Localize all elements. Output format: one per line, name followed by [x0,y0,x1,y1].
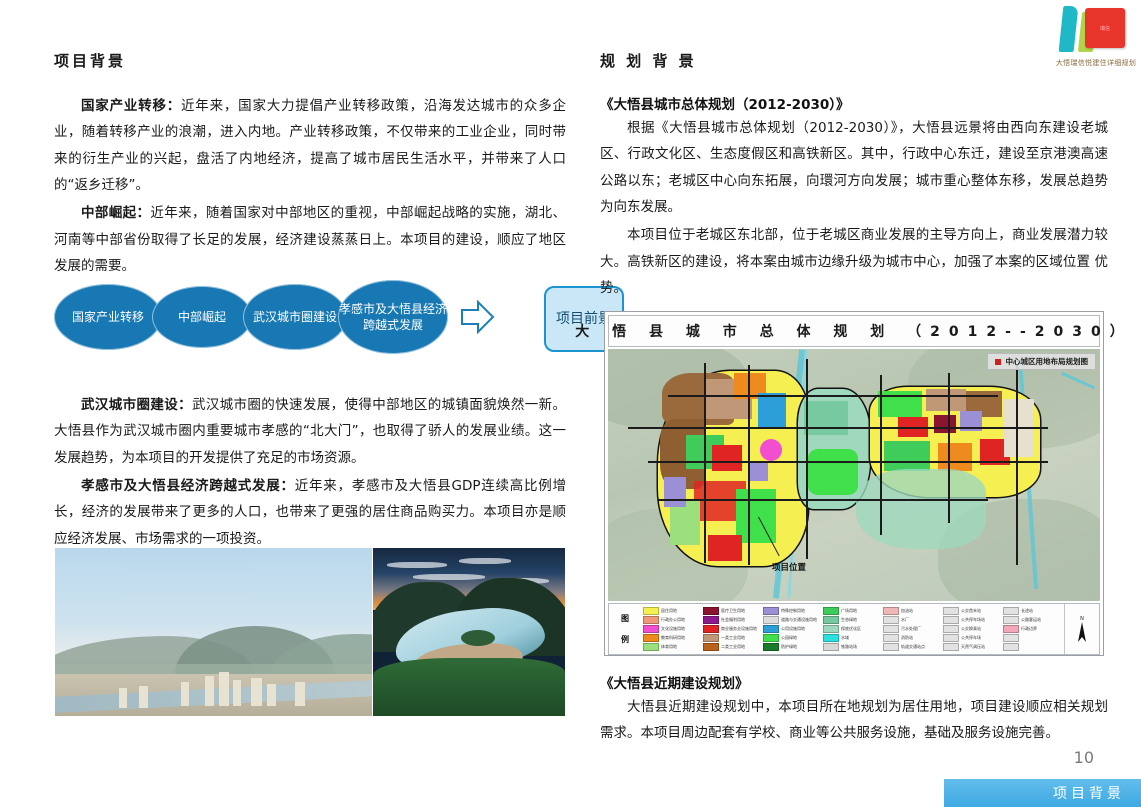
photo-strip [55,548,565,716]
legend-swatch [703,634,719,642]
legend-item-label: 公路客运站 [1021,617,1041,623]
legend-swatch [763,643,779,651]
legend-item: 道路与交通设施用地 [763,616,822,624]
map-legend-title: 图 例 [609,604,641,654]
legend-swatch [763,607,779,615]
map-parcel [938,443,972,471]
legend-item-label: 天然气调压站 [961,644,985,650]
legend-item: 轨道交通站点 [883,643,942,651]
paragraph-wuhan-city-circle: 武汉城市圈建设：武汉城市圈的快速发展，使得中部地区的城镇面貌焕然一新。大悟县作为… [54,392,566,471]
map-parcel [804,401,848,435]
legend-item: 广场用地 [823,607,882,615]
map-road [880,375,882,535]
photo-cloud [459,558,511,564]
map-parcel [884,441,930,471]
legend-item: 行政边界 [1003,625,1062,633]
map-image: 中心城区用地布局规划图 项目位置 [608,349,1100,601]
legend-item-label: 消防站 [901,635,913,641]
photo-building [139,686,148,708]
legend-item: 公交换乘站 [943,625,1002,633]
legend-item: 防护绿地 [763,643,822,651]
subheading-near-term-plan: 《大悟县近期建设规划》 [600,672,1108,692]
right-column: 规 划 背 景 《大悟县城市总体规划（2012-2030）》 根据《大悟县城市总… [600,50,1108,303]
legend-swatch [643,634,659,642]
map-title: 大 悟 县 城 市 总 体 规 划 （2012--2030） [575,321,1132,341]
diagram-node-2[interactable]: 中部崛起 [152,286,252,348]
legend-swatch [1003,607,1019,615]
legend-item: 文化设施用地 [643,625,702,633]
map-legend-items: 居住用地医疗卫生用地特殊控制用地广场用地加油站公交首末站长途站行政办公用地社会福… [641,604,1064,654]
legend-swatch [943,634,959,642]
photo-building [205,676,214,706]
legend-swatch [823,643,839,651]
logo-red-block-icon: 瑞信 [1085,8,1125,48]
legend-item: 特殊控制用地 [763,607,822,615]
photo-city-aerial [55,548,372,716]
footer-bar: 项目背景 [944,779,1141,807]
diagram-node-3[interactable]: 武汉城市圈建设 [243,284,347,350]
project-prospect-diagram: 国家产业转移 中部崛起 武汉城市圈建设 孝感市及大悟县经济跨越式发展 项目前景 [54,276,574,358]
photo-islet [461,630,495,646]
legend-item: 公共停车场 [943,634,1002,642]
legend-swatch [943,607,959,615]
map-road [658,499,988,501]
photo-building [251,678,262,706]
map-road [704,363,706,563]
legend-char-1: 图 [621,613,629,624]
photo-building [181,682,189,706]
map-road [748,365,750,565]
legend-item [1003,634,1062,642]
legend-item: 公园绿地 [763,634,822,642]
legend-item: 居住用地 [643,607,702,615]
legend-item-label: 广场用地 [841,608,857,614]
legend-item-label: 行政边界 [1021,626,1037,632]
logo-red-block-text: 瑞信 [1085,25,1125,32]
legend-swatch [943,616,959,624]
legend-item-label: 铁路站场 [841,644,857,650]
photo-building [119,688,127,708]
map-project-marker-label: 项目位置 [772,561,806,573]
legend-swatch [823,625,839,633]
legend-swatch [883,616,899,624]
legend-item-label: 保底优化区 [841,626,861,632]
legend-item-label: 体育用地 [661,644,677,650]
legend-item: 公交首末站 [943,607,1002,615]
photo-building [219,672,229,706]
map-parcel [934,415,956,433]
right-section-heading: 规 划 背 景 [600,50,1108,71]
legend-item: 消防站 [883,634,942,642]
map-road [806,359,808,559]
legend-swatch [643,643,659,651]
legend-swatch [883,634,899,642]
legend-item: 铁路站场 [823,643,882,651]
legend-item: 商业服务业设施用地 [703,625,762,633]
legend-item: 加油站 [883,607,942,615]
legend-item-label: 教育科研用地 [661,635,685,641]
legend-swatch [883,607,899,615]
legend-item: 生态绿地 [823,616,882,624]
legend-swatch [1003,625,1019,633]
paragraph-national-industry-transfer: 国家产业转移：近年来，国家大力提倡产业转移政策，沿海发达城市的众多企业，随着转移… [54,93,566,198]
paragraph-xiaogan-dawu-gdp: 孝感市及大悟县经济跨越式发展：近年来，孝感市及大悟县GDP连续高比例增长，经济的… [54,473,566,552]
legend-item-label: 商业服务业设施用地 [721,626,757,632]
legend-item-label: 轨道交通站点 [901,644,925,650]
legend-swatch [883,625,899,633]
legend-item-label: 长途站 [1021,608,1033,614]
legend-item-label: 水域 [841,635,849,641]
photo-building [233,680,241,706]
paragraph-project-location: 本项目位于老城区东北部，位于老城区商业发展的主导方向上，商业发展潜力较 大。高铁… [600,222,1108,301]
map-parcel [760,439,782,461]
map-corner-legend: 中心城区用地布局规划图 [987,353,1097,370]
footer-label: 项目背景 [1053,783,1125,803]
legend-swatch [643,607,659,615]
legend-item: 社会福利用地 [703,616,762,624]
legend-item-label: 防护绿地 [781,644,797,650]
legend-item-label: 公共停车场站 [961,617,985,623]
legend-item-label: 公共停车场 [961,635,981,641]
diagram-node-1[interactable]: 国家产业转移 [54,284,162,350]
legend-item-label: 污水处理厂 [901,626,921,632]
map-parcel [736,489,776,543]
paragraph-near-term-plan: 大悟县近期建设规划中，本项目所在地规划为居住用地，项目建设顺应相关规划需求。本项… [600,694,1108,747]
map-basin [856,469,986,549]
left-column: 项目背景 国家产业转移：近年来，国家大力提倡产业转移政策，沿海发达城市的众多企业… [54,50,566,281]
legend-item: 教育科研用地 [643,634,702,642]
paragraph-central-rise: 中部崛起：近年来，随着国家对中部地区的重视，中部崛起战略的实施，湖北、河南等中部… [54,200,566,279]
legend-item-label: 医疗卫生用地 [721,608,745,614]
legend-item-label: 居住用地 [661,608,677,614]
photo-river-valley-sunset [373,548,565,716]
map-road [648,461,1048,463]
legend-item-label: 公用设施用地 [781,626,805,632]
legend-item [1003,643,1062,651]
legend-swatch [643,625,659,633]
paragraph-lead-2: 中部崛起： [81,205,150,221]
map-parcel [808,449,858,495]
legend-swatch [1003,616,1019,624]
svg-text:N: N [1080,616,1084,622]
legend-swatch [823,616,839,624]
legend-item-label: 特殊控制用地 [781,608,805,614]
legend-swatch [763,625,779,633]
legend-item: 污水处理厂 [883,625,942,633]
paragraph-lead-1: 国家产业转移： [81,98,181,114]
legend-swatch [703,643,719,651]
photo-building [267,684,276,706]
photo-foreground-forest [373,658,565,716]
legend-item-label: 二类工业用地 [721,644,745,650]
legend-swatch [943,625,959,633]
map-road [948,373,950,523]
map-title-bar: 大 悟 县 城 市 总 体 规 划 （2012--2030） [608,315,1100,347]
legend-item-label: 行政办公用地 [661,617,685,623]
legend-item: 水厂 [883,616,942,624]
legend-swatch [703,616,719,624]
compass-icon: N [1064,604,1099,654]
left-column-lower: 武汉城市圈建设：武汉城市圈的快速发展，使得中部地区的城镇面貌焕然一新。大悟县作为… [54,392,566,554]
legend-swatch [1003,634,1019,642]
legend-item-label: 社会福利用地 [721,617,745,623]
paragraph-master-plan: 根据《大悟县城市总体规划（2012-2030）》，大悟县远景将由西向东建设老城区… [600,115,1108,220]
map-road [1016,365,1018,565]
legend-swatch [823,607,839,615]
legend-item: 二类工业用地 [703,643,762,651]
photo-cloud [387,562,447,568]
legend-item: 体育用地 [643,643,702,651]
map-parcel [712,445,742,471]
legend-item: 公共停车场站 [943,616,1002,624]
legend-marker-icon [995,359,1001,365]
legend-item: 保底优化区 [823,625,882,633]
arrow-right-icon [456,298,498,336]
paragraph-lead-3: 武汉城市圈建设： [81,397,192,413]
legend-swatch [1003,643,1019,651]
legend-item-label: 道路与交通设施用地 [781,617,817,623]
legend-item: 公用设施用地 [763,625,822,633]
right-column-lower: 《大悟县近期建设规划》 大悟县近期建设规划中，本项目所在地规划为居住用地，项目建… [600,672,1108,749]
legend-swatch [643,616,659,624]
legend-item-label: 一类工业用地 [721,635,745,641]
slide-page: 瑞信 大悟瑞信悦建住详细规划 项目背景 国家产业转移：近年来，国家大力提倡产业转… [0,0,1141,807]
legend-swatch [703,625,719,633]
legend-item-label: 加油站 [901,608,913,614]
legend-item-label: 公交换乘站 [961,626,981,632]
diagram-node-4[interactable]: 孝感市及大悟县经济跨越式发展 [338,280,448,354]
legend-swatch [943,643,959,651]
legend-char-2: 例 [621,634,629,645]
map-parcel [664,477,686,507]
map-road [628,427,1048,429]
legend-swatch [763,616,779,624]
logo-bar-teal [1059,6,1079,52]
map-legend-bar: 图 例 居住用地医疗卫生用地特殊控制用地广场用地加油站公交首末站长途站行政办公用… [608,603,1100,655]
paragraph-lead-4: 孝感市及大悟县经济跨越式发展： [81,478,295,494]
legend-swatch [883,643,899,651]
legend-item: 公路客运站 [1003,616,1062,624]
legend-item: 水域 [823,634,882,642]
legend-swatch [763,634,779,642]
legend-item-label: 文化设施用地 [661,626,685,632]
master-plan-map[interactable]: 大 悟 县 城 市 总 体 规 划 （2012--2030） [604,311,1104,656]
photo-building [295,682,305,706]
map-parcel [750,463,768,481]
subheading-master-plan: 《大悟县城市总体规划（2012-2030）》 [600,93,1108,113]
page-number: 10 [1074,748,1094,767]
legend-item: 行政办公用地 [643,616,702,624]
legend-item: 天然气调压站 [943,643,1002,651]
legend-item: 长途站 [1003,607,1062,615]
map-parcel [708,535,742,561]
map-parcel [758,393,786,429]
photo-cloud [413,574,485,580]
map-parcel [926,389,966,411]
legend-swatch [703,607,719,615]
legend-item-label: 公园绿地 [781,635,797,641]
legend-item-label: 公交首末站 [961,608,981,614]
legend-swatch [823,634,839,642]
legend-item: 医疗卫生用地 [703,607,762,615]
map-corner-legend-label: 中心城区用地布局规划图 [1006,356,1089,367]
left-section-heading: 项目背景 [54,50,566,71]
legend-item-label: 水厂 [901,617,909,623]
legend-item: 一类工业用地 [703,634,762,642]
legend-item-label: 生态绿地 [841,617,857,623]
